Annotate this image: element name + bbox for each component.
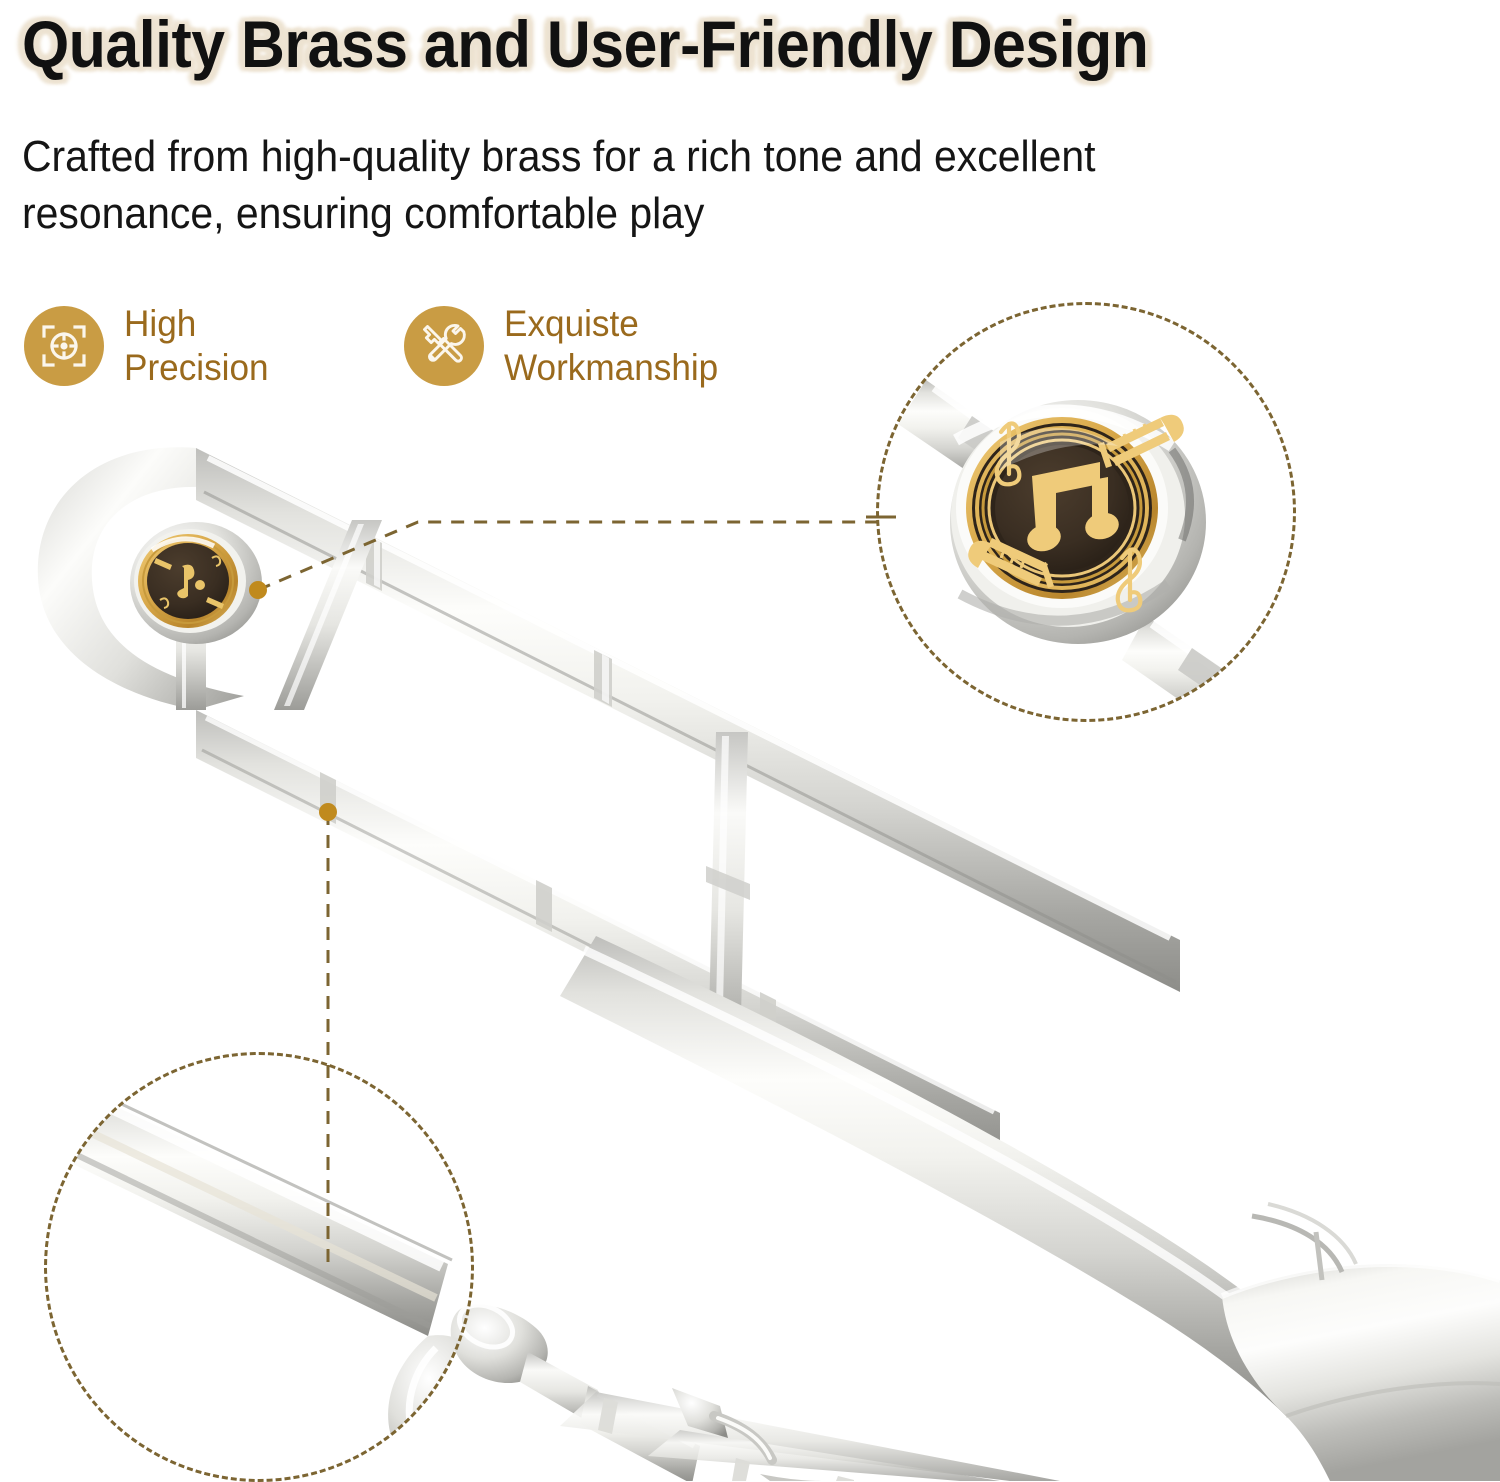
bell-flare (1222, 1204, 1500, 1481)
page-subtitle: Crafted from high-quality brass for a ri… (22, 128, 1259, 242)
bell-neck-tube (560, 936, 1340, 1416)
feature-badge-high-precision: High Precision (24, 302, 276, 390)
page-headline: Quality Brass and User-Friendly Design (22, 8, 1347, 80)
callout-circle-slide (44, 1052, 474, 1482)
callout-circle-medallion (876, 302, 1296, 722)
focus-target-icon (24, 306, 104, 386)
leader-dot-slide (319, 803, 337, 821)
feature-badge-exquiste-workmanship: Exquiste Workmanship (404, 302, 730, 390)
feature-badge-label: High Precision (124, 302, 269, 390)
valve-cap-medallion (130, 522, 262, 644)
hammer-wrench-icon (404, 306, 484, 386)
leader-dot-medallion (249, 581, 267, 599)
feature-badge-label: Exquiste Workmanship (504, 302, 718, 390)
water-key (760, 1474, 824, 1481)
product-feature-panel: Quality Brass and User-Friendly Design C… (0, 0, 1500, 1481)
